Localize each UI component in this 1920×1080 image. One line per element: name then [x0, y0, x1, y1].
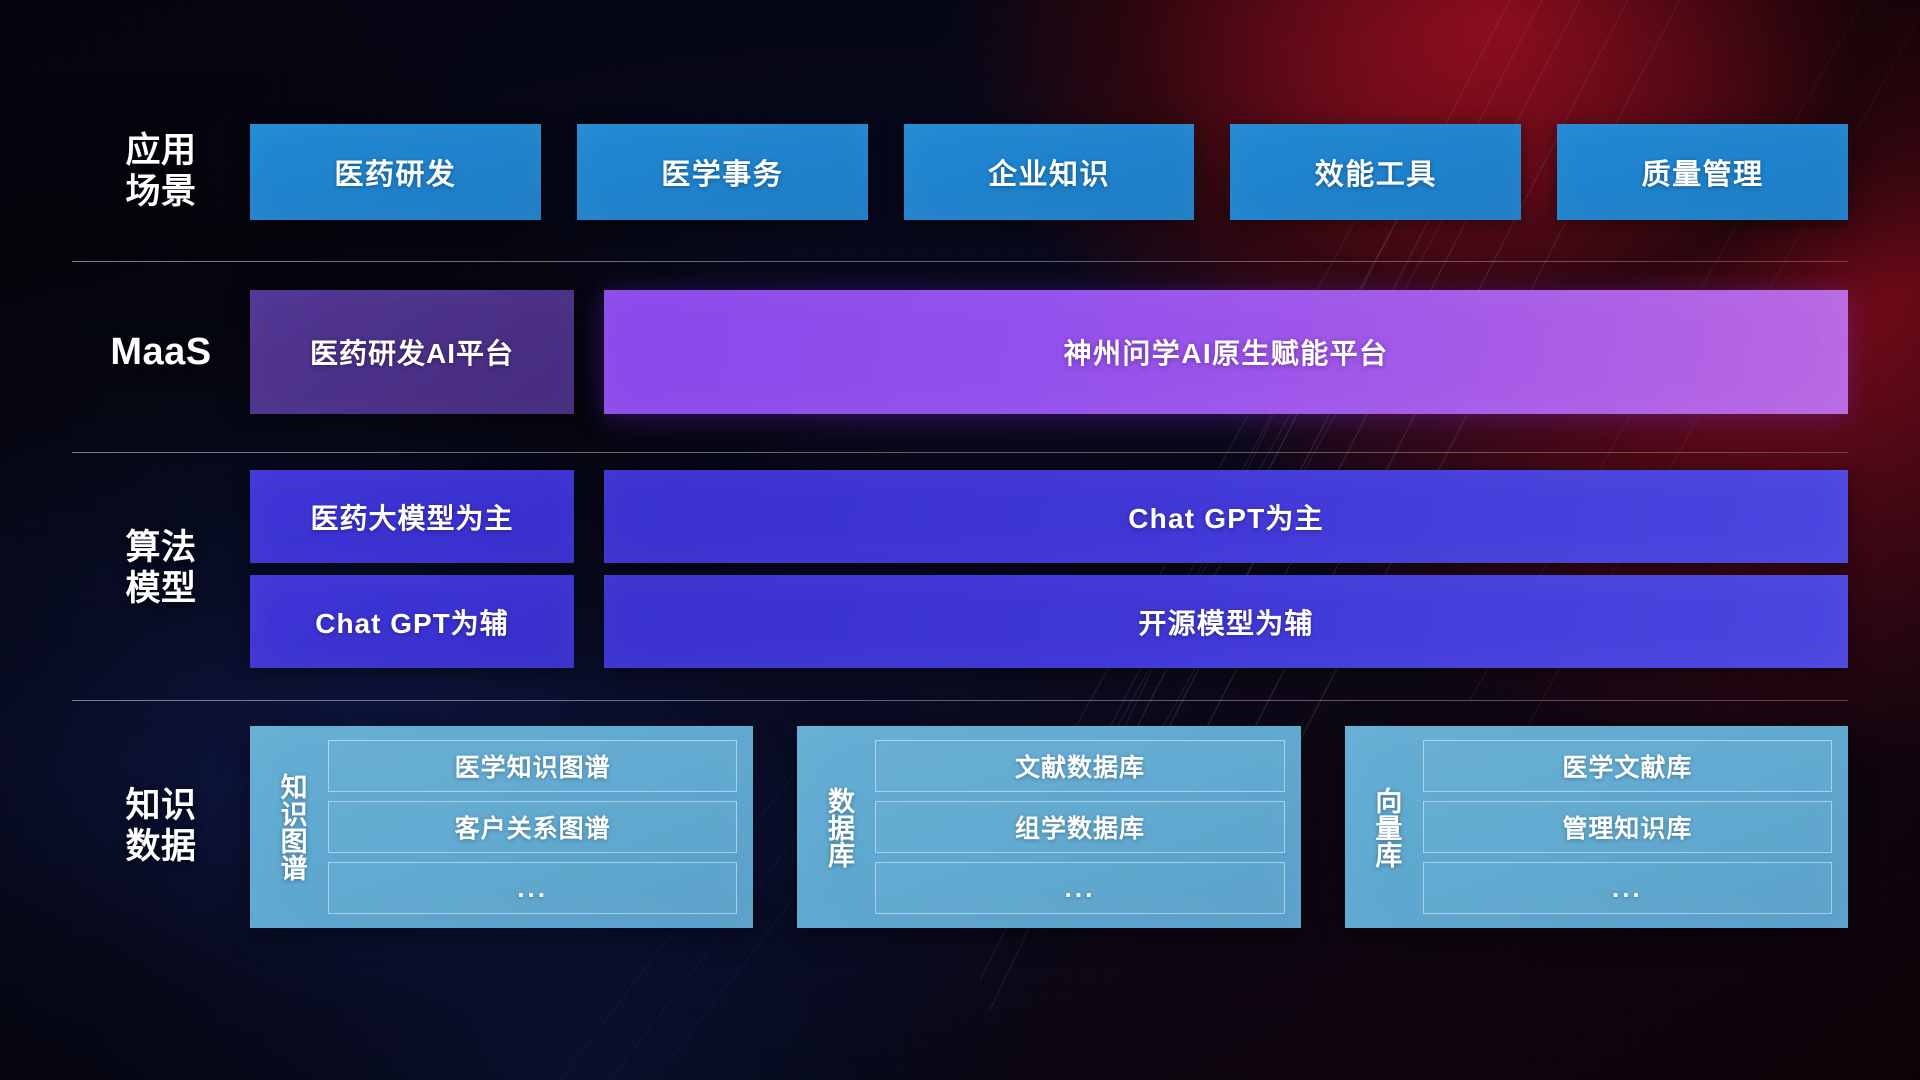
knowledge-panel-vertical-label: 知识图谱	[264, 740, 318, 914]
row-label-algorithm: 算法 模型	[72, 528, 250, 610]
divider-algorithm-knowledge	[72, 700, 1848, 701]
scenario-box-medicine-rnd[interactable]: 医药研发	[250, 124, 541, 220]
scenario-box-quality-management[interactable]: 质量管理	[1557, 124, 1848, 220]
knowledge-panel-vector-store[interactable]: 向量库 医学文献库 管理知识库 ...	[1345, 726, 1848, 928]
algorithm-line-primary: 医药大模型为主 Chat GPT为主	[250, 470, 1848, 563]
knowledge-item-label: 客户关系图谱	[455, 809, 611, 845]
scenario-box-medical-affairs[interactable]: 医学事务	[577, 124, 868, 220]
knowledge-item-label: 组学数据库	[1015, 809, 1145, 845]
knowledge-panel-vertical-label: 向量库	[1359, 740, 1413, 914]
scenario-box-enterprise-knowledge[interactable]: 企业知识	[904, 124, 1195, 220]
knowledge-panel-list: 知识图谱 医学知识图谱 客户关系图谱 ... 数据库 文献数据库 组学数据库 .…	[250, 726, 1848, 928]
scenario-label: 企业知识	[988, 151, 1110, 193]
maas-box-list: 医药研发AI平台 神州问学AI原生赋能平台	[250, 290, 1848, 414]
knowledge-panel-vertical-label: 数据库	[811, 740, 865, 914]
knowledge-item-list: 文献数据库 组学数据库 ...	[875, 740, 1284, 914]
knowledge-panel-database[interactable]: 数据库 文献数据库 组学数据库 ...	[797, 726, 1300, 928]
algorithm-box-chatgpt-primary[interactable]: Chat GPT为主	[604, 470, 1848, 563]
knowledge-item-label: 医学知识图谱	[455, 748, 611, 784]
maas-label: 神州问学AI原生赋能平台	[1064, 332, 1389, 372]
knowledge-item-label: 医学文献库	[1562, 748, 1692, 784]
maas-box-shenzhou-wenxue-platform[interactable]: 神州问学AI原生赋能平台	[604, 290, 1848, 414]
algorithm-box-pharma-llm-primary[interactable]: 医药大模型为主	[250, 470, 574, 563]
knowledge-item-list: 医学知识图谱 客户关系图谱 ...	[328, 740, 737, 914]
knowledge-panel-knowledge-graph[interactable]: 知识图谱 医学知识图谱 客户关系图谱 ...	[250, 726, 753, 928]
knowledge-item-more[interactable]: ...	[1423, 862, 1832, 914]
knowledge-item-label: ...	[1612, 873, 1643, 904]
knowledge-item-label: ...	[1065, 873, 1096, 904]
scenario-box-efficiency-tools[interactable]: 效能工具	[1230, 124, 1521, 220]
algorithm-box-chatgpt-secondary[interactable]: Chat GPT为辅	[250, 575, 574, 668]
knowledge-item-medical-literature-store[interactable]: 医学文献库	[1423, 740, 1832, 792]
algorithm-label: Chat GPT为辅	[315, 602, 509, 642]
knowledge-item-label: 管理知识库	[1562, 809, 1692, 845]
knowledge-item-more[interactable]: ...	[875, 862, 1284, 914]
row-scenarios: 应用 场景 医药研发 医学事务 企业知识 效能工具 质量管理	[72, 124, 1848, 220]
row-label-knowledge: 知识 数据	[72, 786, 250, 868]
knowledge-item-literature-database[interactable]: 文献数据库	[875, 740, 1284, 792]
row-label-maas: MaaS	[72, 330, 250, 374]
knowledge-item-label: 文献数据库	[1015, 748, 1145, 784]
architecture-diagram: 应用 场景 医药研发 医学事务 企业知识 效能工具 质量管理 MaaS 医药研发…	[0, 0, 1920, 1080]
knowledge-item-more[interactable]: ...	[328, 862, 737, 914]
maas-box-pharma-ai-platform[interactable]: 医药研发AI平台	[250, 290, 574, 414]
algorithm-box-grid: 医药大模型为主 Chat GPT为主 Chat GPT为辅 开源模型为辅	[250, 470, 1848, 668]
knowledge-item-list: 医学文献库 管理知识库 ...	[1423, 740, 1832, 914]
maas-label: 医药研发AI平台	[310, 332, 514, 372]
knowledge-item-management-knowledge-store[interactable]: 管理知识库	[1423, 801, 1832, 853]
scenario-label: 效能工具	[1315, 151, 1437, 193]
algorithm-label: 开源模型为辅	[1138, 602, 1313, 642]
scenario-label: 质量管理	[1642, 151, 1764, 193]
algorithm-label: 医药大模型为主	[310, 497, 513, 537]
row-algorithm: 算法 模型 医药大模型为主 Chat GPT为主 Chat GPT为辅 开源模型…	[72, 470, 1848, 668]
row-label-scenarios: 应用 场景	[72, 131, 250, 213]
knowledge-item-medical-knowledge-graph[interactable]: 医学知识图谱	[328, 740, 737, 792]
scenario-label: 医学事务	[661, 151, 783, 193]
slide-canvas: 应用 场景 医药研发 医学事务 企业知识 效能工具 质量管理 MaaS 医药研发…	[0, 0, 1920, 1080]
knowledge-item-label: ...	[517, 873, 548, 904]
algorithm-line-secondary: Chat GPT为辅 开源模型为辅	[250, 575, 1848, 668]
scenario-box-list: 医药研发 医学事务 企业知识 效能工具 质量管理	[250, 124, 1848, 220]
algorithm-box-opensource-secondary[interactable]: 开源模型为辅	[604, 575, 1848, 668]
knowledge-item-omics-database[interactable]: 组学数据库	[875, 801, 1284, 853]
row-maas: MaaS 医药研发AI平台 神州问学AI原生赋能平台	[72, 290, 1848, 414]
scenario-label: 医药研发	[334, 151, 456, 193]
divider-scenarios-maas	[72, 261, 1848, 262]
row-knowledge: 知识 数据 知识图谱 医学知识图谱 客户关系图谱 ... 数据库 文献数据库 组…	[72, 726, 1848, 928]
knowledge-item-customer-relation-graph[interactable]: 客户关系图谱	[328, 801, 737, 853]
divider-maas-algorithm	[72, 452, 1848, 453]
algorithm-label: Chat GPT为主	[1128, 497, 1324, 537]
